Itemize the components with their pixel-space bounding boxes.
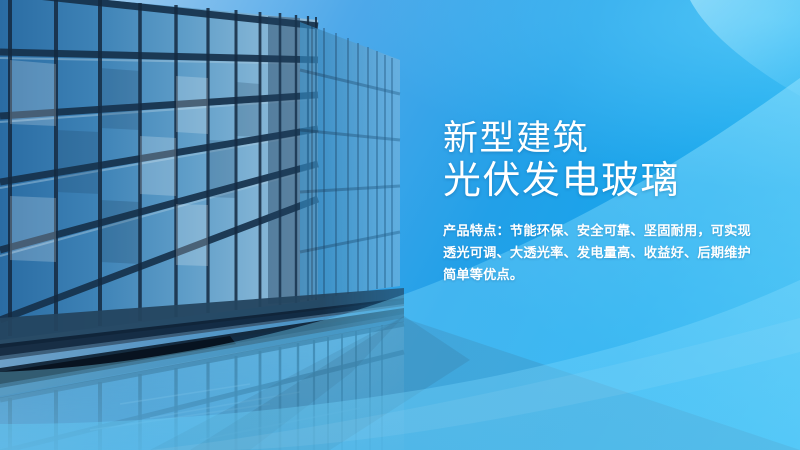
product-description: 产品特点：节能环保、安全可靠、坚固耐用，可实现透光可调、大透光率、发电量高、收益… bbox=[443, 220, 755, 286]
headline-line-1: 新型建筑 bbox=[443, 118, 763, 159]
headline-line-2: 光伏发电玻璃 bbox=[443, 159, 763, 203]
promo-banner: 新型建筑 光伏发电玻璃 产品特点：节能环保、安全可靠、坚固耐用，可实现透光可调、… bbox=[0, 0, 800, 450]
text-block: 新型建筑 光伏发电玻璃 产品特点：节能环保、安全可靠、坚固耐用，可实现透光可调、… bbox=[443, 118, 763, 286]
